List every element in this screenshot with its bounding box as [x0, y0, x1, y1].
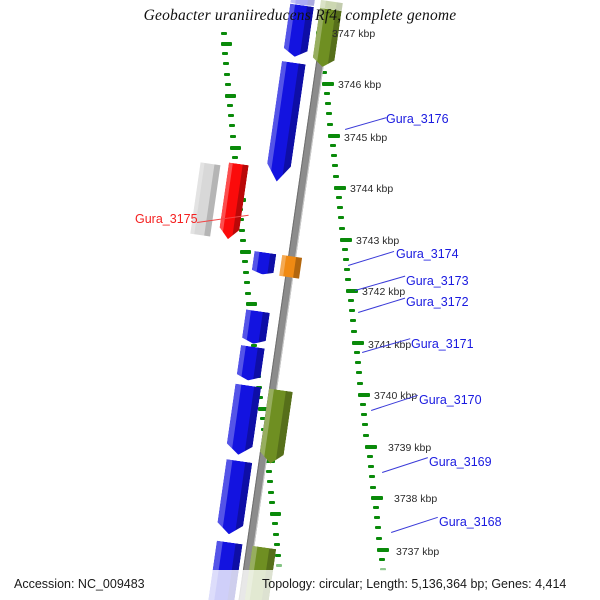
feature-label-gura-3169[interactable]: Gura_3169	[429, 455, 492, 469]
feature-label-gura-3170[interactable]: Gura_3170	[419, 393, 482, 407]
feature-label-gura-3168[interactable]: Gura_3168	[439, 515, 502, 529]
accession-label: Accession: NC_009483	[14, 577, 145, 591]
genome-viewer[interactable]: Geobacter uraniireducens Rf4, complete g…	[0, 0, 600, 600]
feature-label-gura-3174[interactable]: Gura_3174	[396, 247, 459, 261]
tick-label: 3742 kbp	[362, 286, 405, 298]
gene-glyph[interactable]	[216, 459, 252, 536]
tick-label: 3743 kbp	[356, 235, 399, 247]
status-bar: Accession: NC_009483 Topology: circular;…	[0, 570, 600, 600]
feature-label-gura-3172[interactable]: Gura_3172	[406, 295, 469, 309]
tick-label: 3747 kbp	[332, 28, 375, 40]
feature-label-gura-3176[interactable]: Gura_3176	[386, 112, 449, 126]
tick-label: 3737 kbp	[396, 546, 439, 558]
gene-glyph[interactable]	[265, 61, 306, 183]
gene-glyph[interactable]	[241, 309, 269, 345]
tick-label: 3744 kbp	[350, 183, 393, 195]
gene-glyph-selected[interactable]	[218, 162, 249, 240]
gene-glyph[interactable]	[279, 255, 302, 279]
sequence-track-stage[interactable]	[0, 0, 600, 600]
tick-label: 3739 kbp	[388, 442, 431, 454]
feature-label-gura-3173[interactable]: Gura_3173	[406, 274, 469, 288]
gene-glyph[interactable]	[236, 345, 265, 382]
page-title: Geobacter uraniireducens Rf4, complete g…	[0, 7, 600, 25]
genome-stats-label: Topology: circular; Length: 5,136,364 bp…	[262, 577, 566, 591]
gene-glyph[interactable]	[251, 251, 276, 276]
feature-label-gura-3171[interactable]: Gura_3171	[411, 337, 474, 351]
tick-label: 3745 kbp	[344, 132, 387, 144]
gene-glyph[interactable]	[259, 388, 293, 465]
gene-glyph[interactable]	[225, 384, 261, 457]
feature-label-gura-3175[interactable]: Gura_3175	[135, 212, 198, 226]
tick-label: 3746 kbp	[338, 79, 381, 91]
tick-label: 3738 kbp	[394, 493, 437, 505]
